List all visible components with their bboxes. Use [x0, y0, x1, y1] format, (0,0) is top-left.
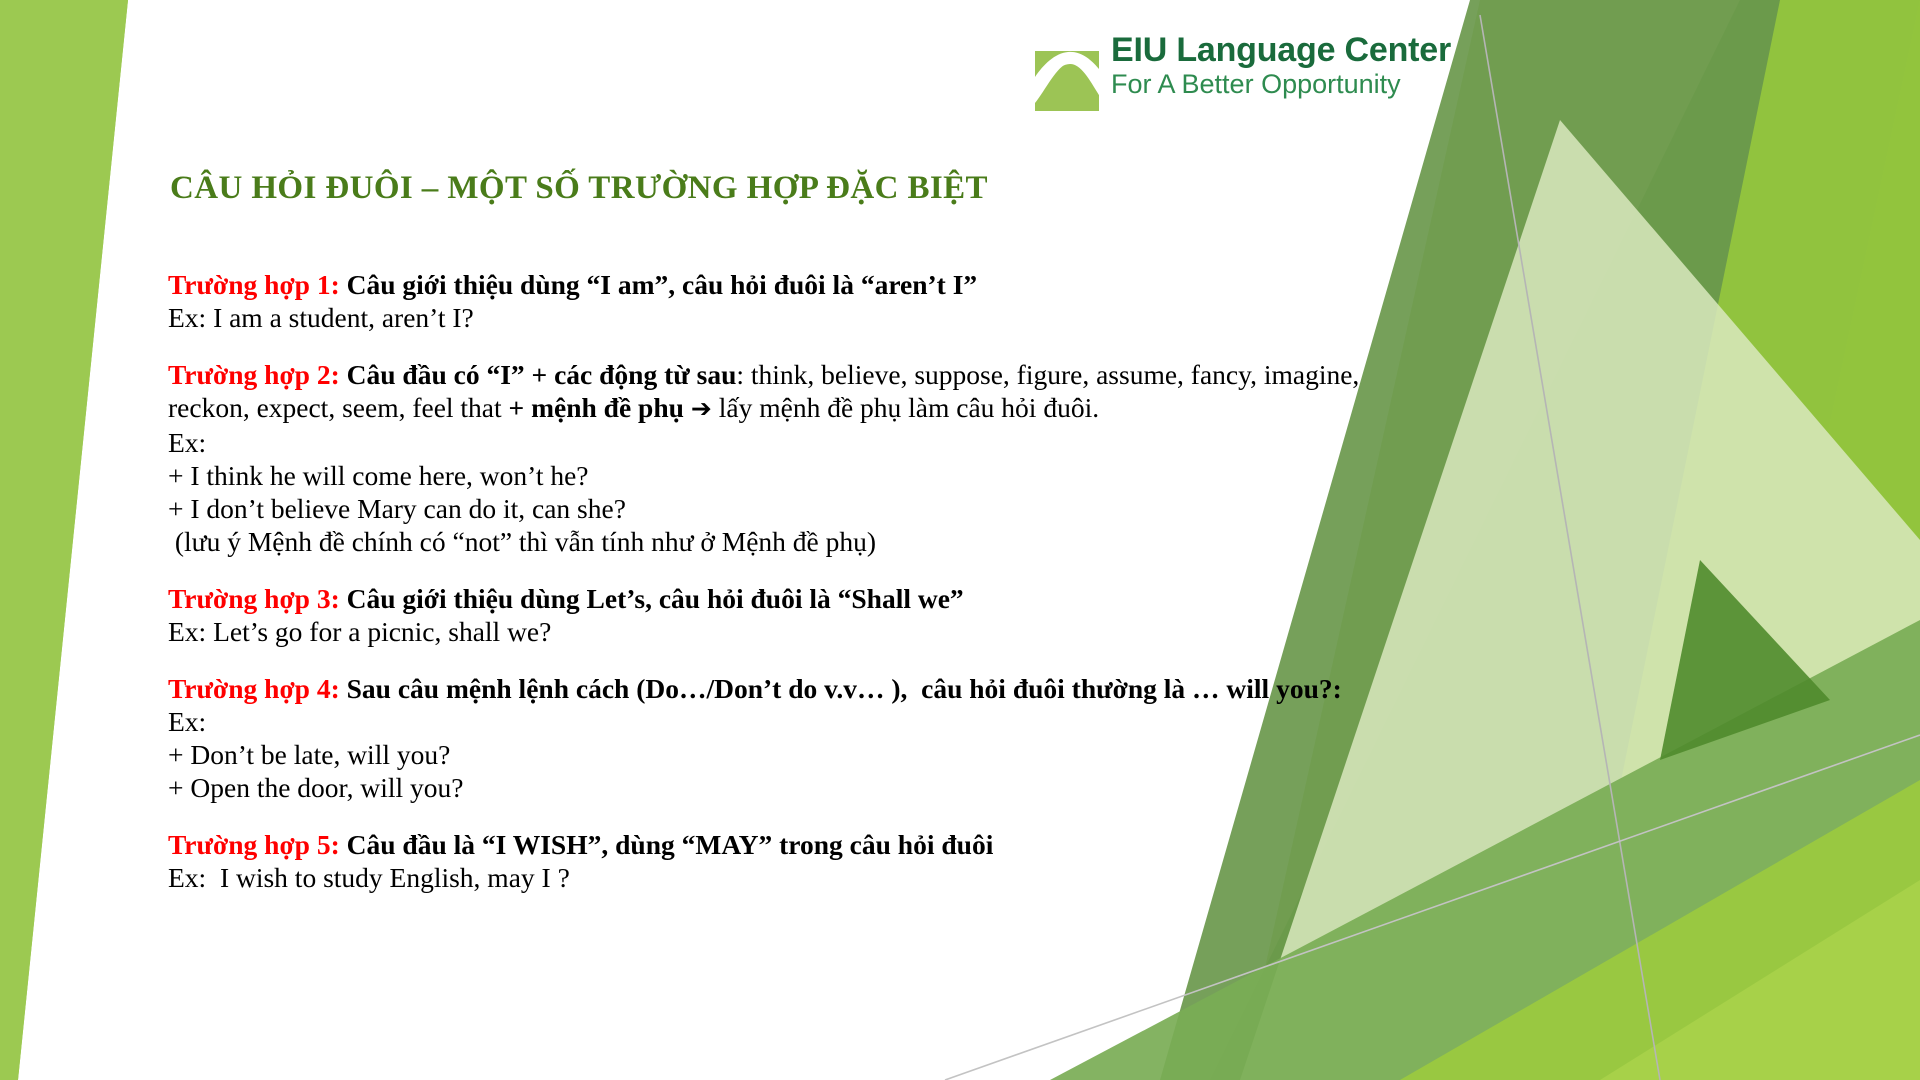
page-title: CÂU HỎI ĐUÔI – MỘT SỐ TRƯỜNG HỢP ĐẶC BIỆ…: [170, 170, 988, 207]
case-heading-text-5: Câu đầu là “I WISH”, dùng “MAY” trong câ…: [340, 829, 994, 860]
case-heading-text-3: Câu giới thiệu dùng Let’s, câu hỏi đuôi …: [340, 583, 964, 614]
case-example-line: + I don’t believe Mary can do it, can sh…: [168, 492, 1398, 525]
hairline-steep: [1480, 15, 1660, 1080]
logo-subtitle: For A Better Opportunity: [1111, 71, 1451, 98]
case-heading-text-4: Sau câu mệnh lệnh cách (Do…/Don’t do v.v…: [340, 673, 1342, 704]
left-green-wedge: [0, 0, 128, 1080]
deep-green-overlap: [1660, 560, 1830, 760]
case-note-line: (lưu ý Mệnh đề chính có “not” thì vẫn tí…: [168, 525, 1398, 558]
right-arrow-icon: ➔: [684, 395, 719, 423]
case-heading-bold-a-2: Câu đầu có “I” + các động từ sau: [340, 359, 737, 390]
case-heading-1: Trường hợp 1: Câu giới thiệu dùng “I am”…: [168, 268, 1398, 301]
case-example-line: + Don’t be late, will you?: [168, 738, 1398, 771]
case-block-2: Trường hợp 2: Câu đầu có “I” + các động …: [168, 358, 1398, 558]
case-heading-2: Trường hợp 2: Câu đầu có “I” + các động …: [168, 358, 1398, 426]
case-tag-3: Trường hợp 3:: [168, 583, 340, 614]
case-example-line: Ex: I am a student, aren’t I?: [168, 301, 1398, 334]
case-tag-4: Trường hợp 4:: [168, 673, 340, 704]
case-block-4: Trường hợp 4: Sau câu mệnh lệnh cách (Do…: [168, 672, 1398, 804]
arch-bridge-icon: [1035, 51, 1099, 111]
case-heading-4: Trường hợp 4: Sau câu mệnh lệnh cách (Do…: [168, 672, 1398, 705]
case-example-line: Ex: Let’s go for a picnic, shall we?: [168, 615, 1398, 648]
case-tag-5: Trường hợp 5:: [168, 829, 340, 860]
case-block-3: Trường hợp 3: Câu giới thiệu dùng Let’s,…: [168, 582, 1398, 648]
bright-green-overlay-right: [1560, 0, 1920, 1080]
case-example-line: Ex:: [168, 705, 1398, 738]
case-example-line: Ex:: [168, 426, 1398, 459]
case-heading-bold-b-2: + mệnh đề phụ: [509, 392, 684, 423]
case-tag-1: Trường hợp 1:: [168, 269, 340, 300]
slide-canvas: EIU Language Center For A Better Opportu…: [0, 0, 1920, 1080]
eiu-logo: EIU Language Center For A Better Opportu…: [1035, 33, 1451, 111]
case-heading-plain-b-2: lấy mệnh đề phụ làm câu hỏi đuôi.: [719, 392, 1099, 423]
logo-title: EIU Language Center: [1111, 33, 1451, 67]
case-example-line: + I think he will come here, won’t he?: [168, 459, 1398, 492]
bright-green-bottom-sliver: [1400, 780, 1920, 1080]
case-block-1: Trường hợp 1: Câu giới thiệu dùng “I am”…: [168, 268, 1398, 334]
case-block-5: Trường hợp 5: Câu đầu là “I WISH”, dùng …: [168, 828, 1398, 894]
case-heading-text-1: Câu giới thiệu dùng “I am”, câu hỏi đuôi…: [340, 269, 977, 300]
left-green-wedge-main: [0, 0, 128, 1080]
slide-body: Trường hợp 1: Câu giới thiệu dùng “I am”…: [168, 268, 1398, 894]
case-example-line: + Open the door, will you?: [168, 771, 1398, 804]
lime-highlight-bottom: [1600, 880, 1920, 1080]
case-example-line: Ex: I wish to study English, may I ?: [168, 861, 1398, 894]
case-heading-5: Trường hợp 5: Câu đầu là “I WISH”, dùng …: [168, 828, 1398, 861]
case-tag-2: Trường hợp 2:: [168, 359, 340, 390]
case-heading-3: Trường hợp 3: Câu giới thiệu dùng Let’s,…: [168, 582, 1398, 615]
